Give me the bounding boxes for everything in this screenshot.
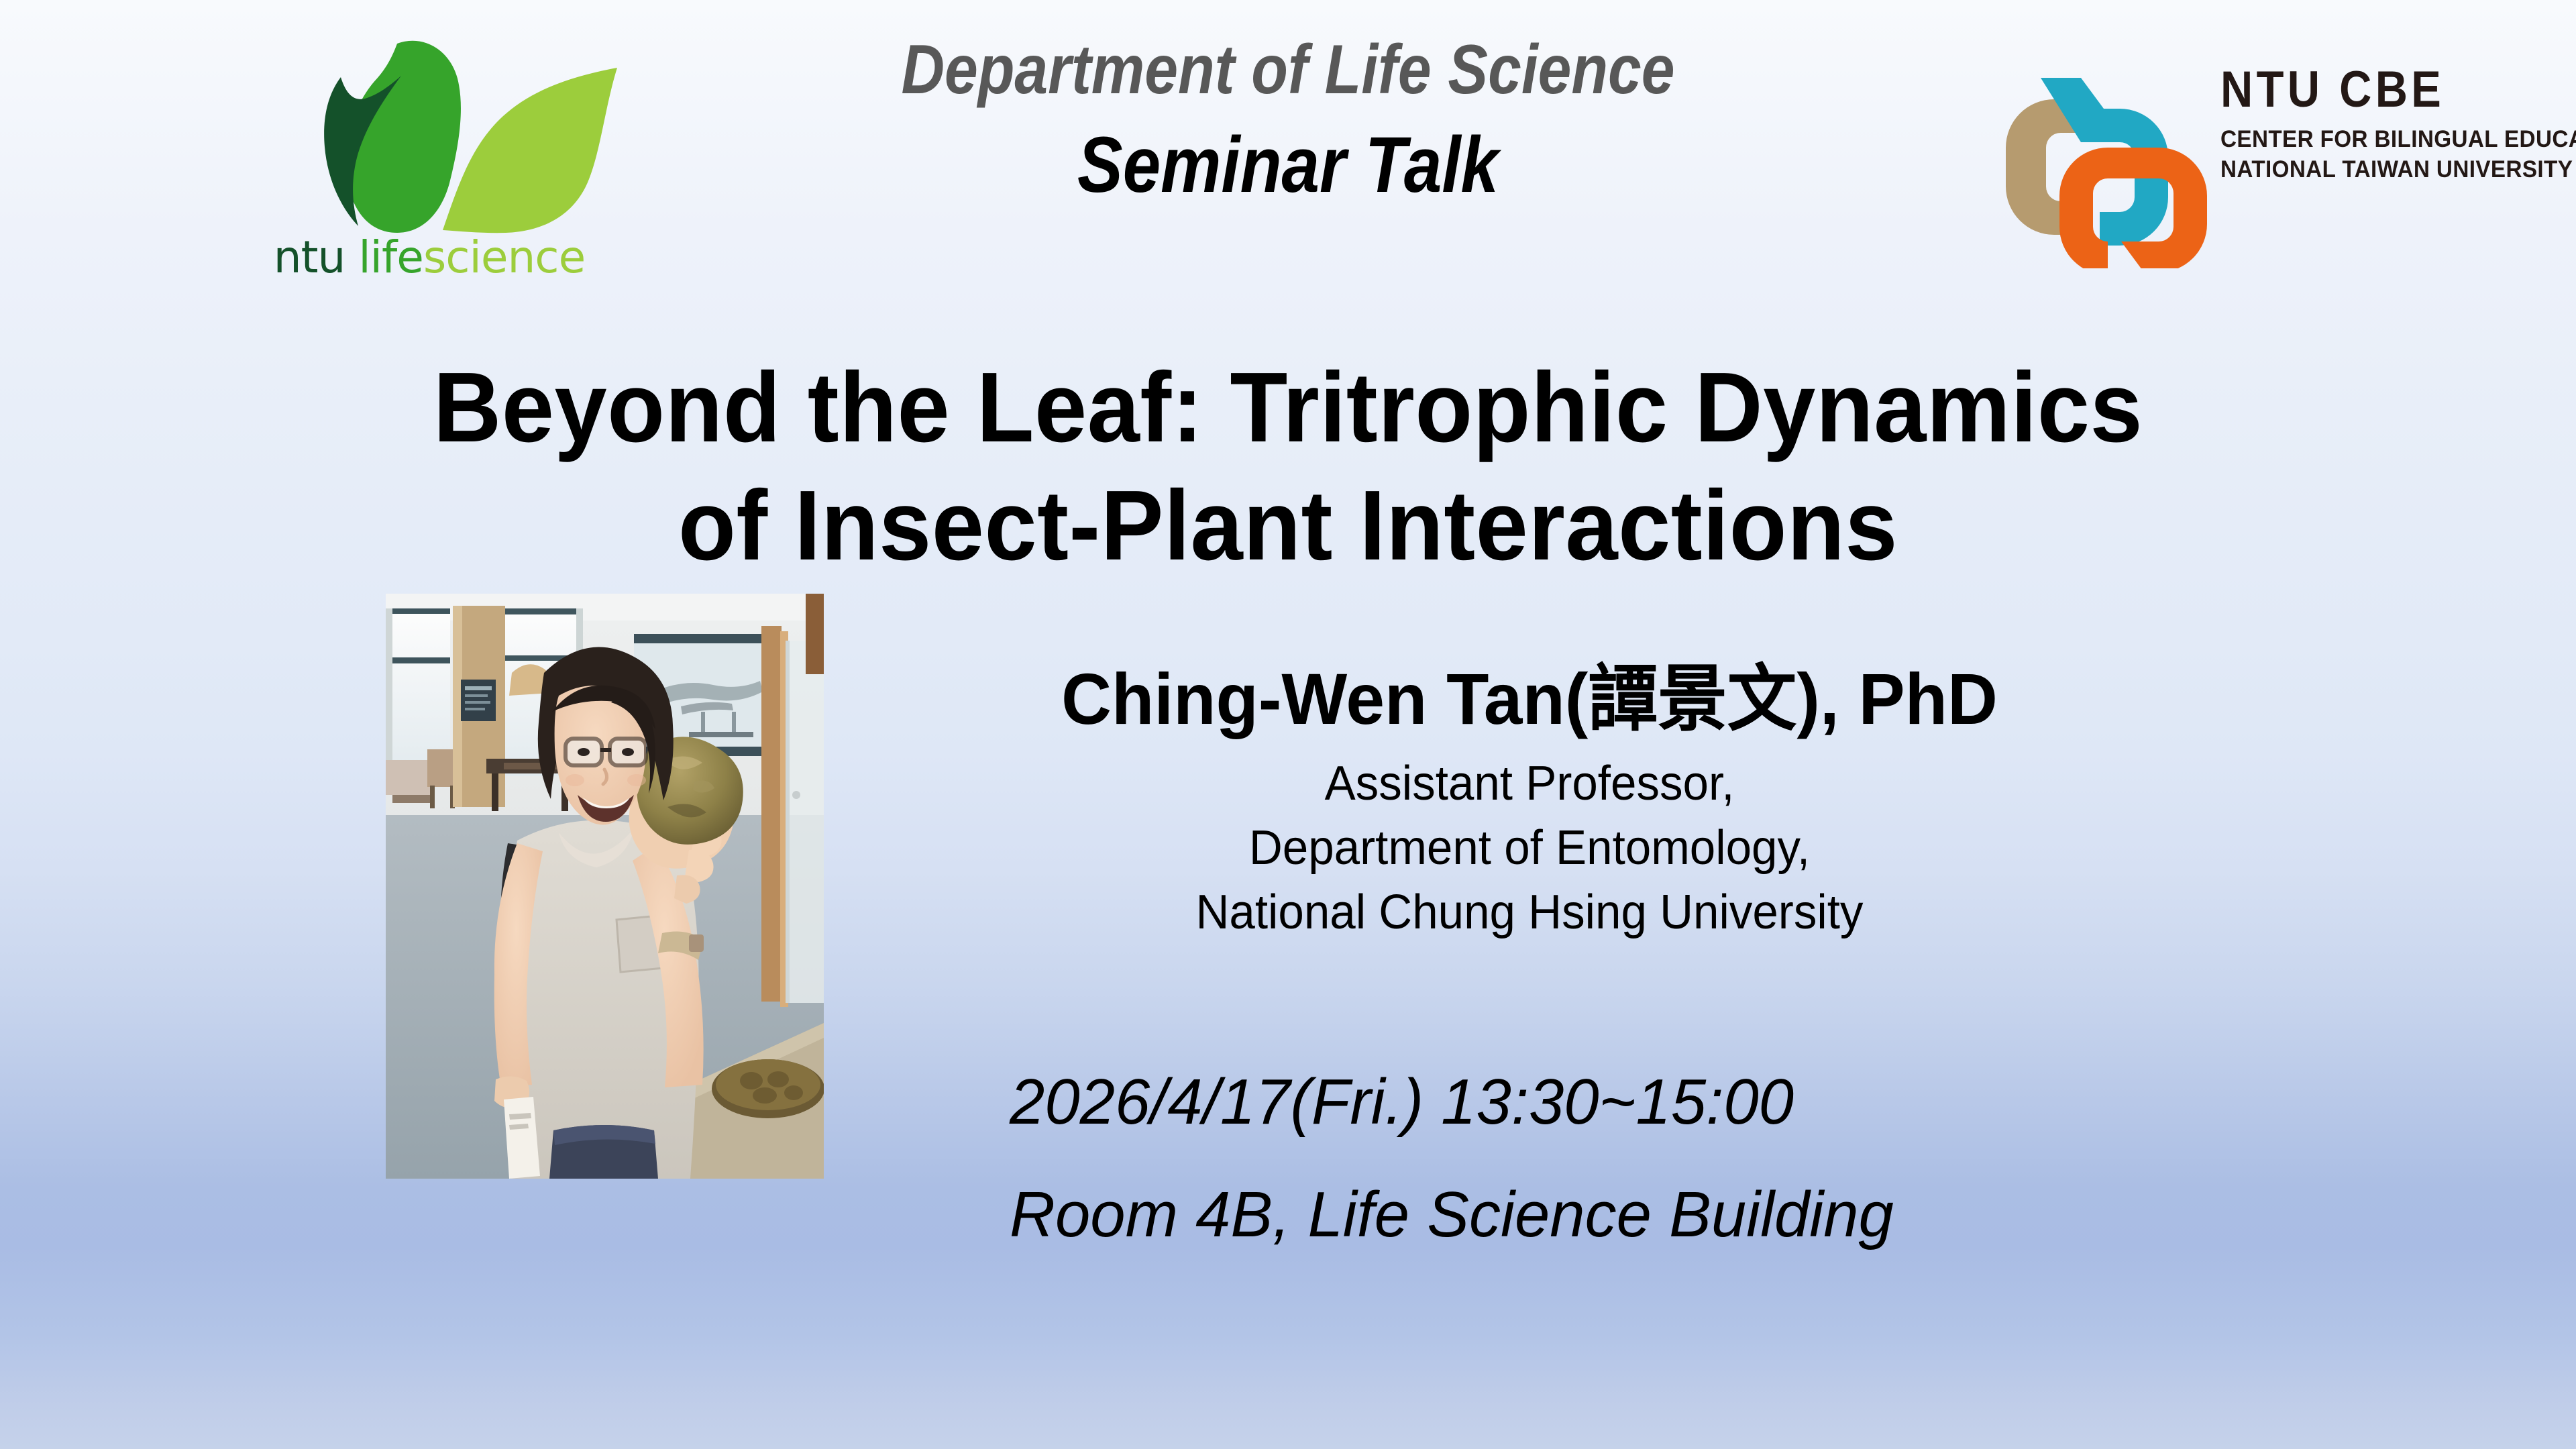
cbe-title: NTU CBE [2220, 63, 2510, 117]
ntu-life-science-wordmark: ntu lifescience [221, 231, 637, 283]
wordmark-science: science [423, 231, 585, 283]
ntu-cbe-logo: NTU CBE CENTER FOR BILINGUAL EDUCATION N… [2006, 54, 2549, 268]
wordmark-ntu: ntu [274, 231, 345, 283]
cbe-subtitle-line2: NATIONAL TAIWAN UNIVERSITY [2220, 155, 2533, 185]
speaker-affiliation: Assistant Professor, Department of Entom… [872, 752, 2187, 945]
cbe-text-lockup: NTU CBE CENTER FOR BILINGUAL EDUCATION N… [2220, 63, 2549, 184]
speaker-info: Ching-Wen Tan(譚景文), PhD Assistant Profes… [872, 661, 2187, 945]
affiliation-line3: National Chung Hsing University [898, 881, 2161, 945]
cbe-subtitle-line1: CENTER FOR BILINGUAL EDUCATION [2220, 125, 2533, 155]
speaker-photo [386, 594, 824, 1179]
talk-title-line1: Beyond the Leaf: Tritrophic Dynamics [64, 349, 2512, 467]
speaker-name: Ching-Wen Tan(譚景文), PhD [898, 661, 2161, 737]
affiliation-line1: Assistant Professor, [898, 752, 2161, 816]
talk-title: Beyond the Leaf: Tritrophic Dynamics of … [0, 349, 2576, 585]
event-datetime: 2026/4/17(Fri.) 13:30~15:00 [1010, 1070, 2390, 1134]
cbe-interlocking-links-icon [2006, 54, 2207, 268]
cbe-subtitle: CENTER FOR BILINGUAL EDUCATION NATIONAL … [2220, 125, 2533, 185]
speaker-photo-image [386, 594, 824, 1179]
affiliation-line2: Department of Entomology, [898, 816, 2161, 881]
event-venue: Room 4B, Life Science Building [1010, 1183, 2390, 1247]
wordmark-life: life [358, 231, 423, 283]
seminar-poster: ntu lifescience Department of Life Scien… [0, 0, 2576, 1449]
talk-title-line2: of Insect-Plant Interactions [64, 467, 2512, 585]
event-details: 2026/4/17(Fri.) 13:30~15:00 Room 4B, Lif… [1010, 1070, 2418, 1247]
